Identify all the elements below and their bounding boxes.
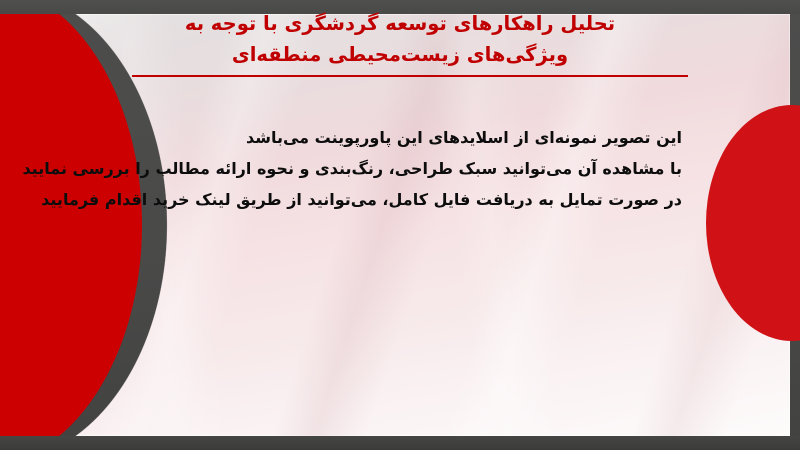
diagonal-streak-overlay-secondary <box>18 14 790 436</box>
slide-body-text: این تصویر نمونه‌ای از اسلایدهای این پاور… <box>122 122 682 215</box>
slide-frame-bottom-band <box>0 436 800 450</box>
diagonal-streak-overlay <box>18 14 790 436</box>
presentation-slide: تحلیل راهکارهای توسعه گردشگری با توجه به… <box>0 0 800 450</box>
body-line-1: این تصویر نمونه‌ای از اسلایدهای این پاور… <box>122 122 682 153</box>
body-line-3: در صورت تمایل به دریافت فایل کامل، می‌تو… <box>122 184 682 215</box>
slide-title: تحلیل راهکارهای توسعه گردشگری با توجه به… <box>0 8 800 70</box>
slide-title-line-1: تحلیل راهکارهای توسعه گردشگری با توجه به <box>0 8 800 39</box>
slide-title-line-2: ویژگی‌های زیست‌محیطی منطقه‌ای <box>0 39 800 70</box>
title-underline-rule <box>132 75 688 77</box>
slide-content-panel <box>18 14 790 436</box>
body-line-2: با مشاهده آن می‌توانید سبک طراحی، رنگ‌بن… <box>122 153 682 184</box>
